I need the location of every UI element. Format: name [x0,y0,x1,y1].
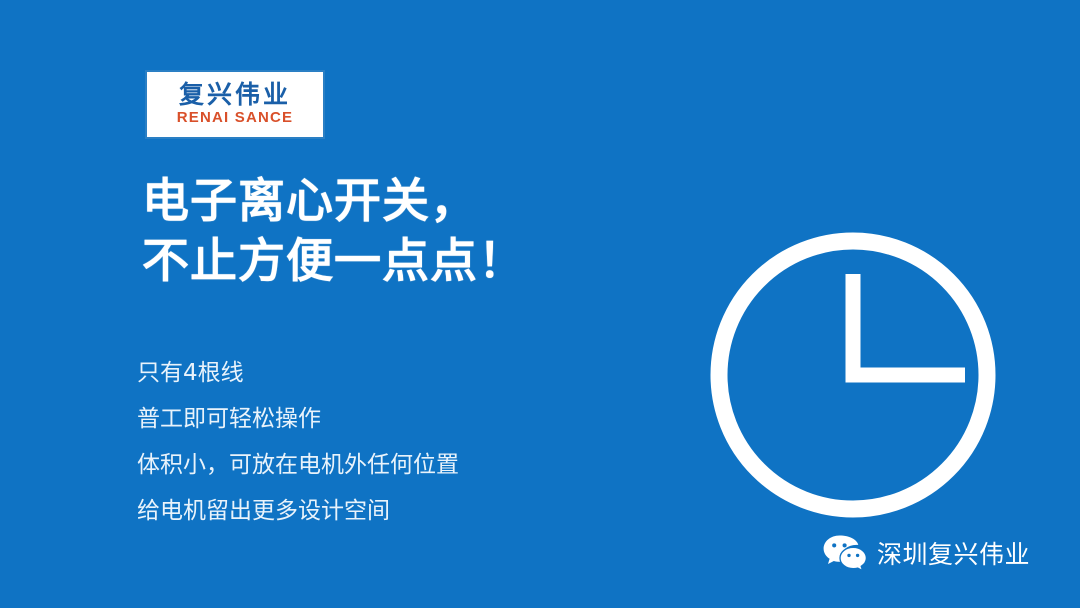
clock-icon [705,227,1001,523]
feature-item-2: 普工即可轻松操作 [137,396,459,442]
feature-item-1: 只有4根线 [137,350,459,396]
wechat-account-name: 深圳复兴伟业 [877,535,1030,571]
wechat-footer: 深圳复兴伟业 [822,533,1030,573]
logo-english-text: RENAI SANCE [177,110,294,127]
headline-line-2: 不止方便一点点！ [142,232,526,292]
feature-item-3: 体积小，可放在电机外任何位置 [137,442,459,488]
logo-chinese-text: 复兴伟业 [179,82,291,108]
wechat-icon [822,533,868,573]
headline-line-1: 电子离心开关， [142,172,526,232]
feature-item-4: 给电机留出更多设计空间 [137,488,459,534]
slide-canvas: 复兴伟业 RENAI SANCE 电子离心开关， 不止方便一点点！ 只有4根线 … [0,0,1080,608]
company-logo: 复兴伟业 RENAI SANCE [145,70,325,139]
headline: 电子离心开关， 不止方便一点点！ [142,172,526,292]
feature-list: 只有4根线 普工即可轻松操作 体积小，可放在电机外任何位置 给电机留出更多设计空… [137,350,459,534]
